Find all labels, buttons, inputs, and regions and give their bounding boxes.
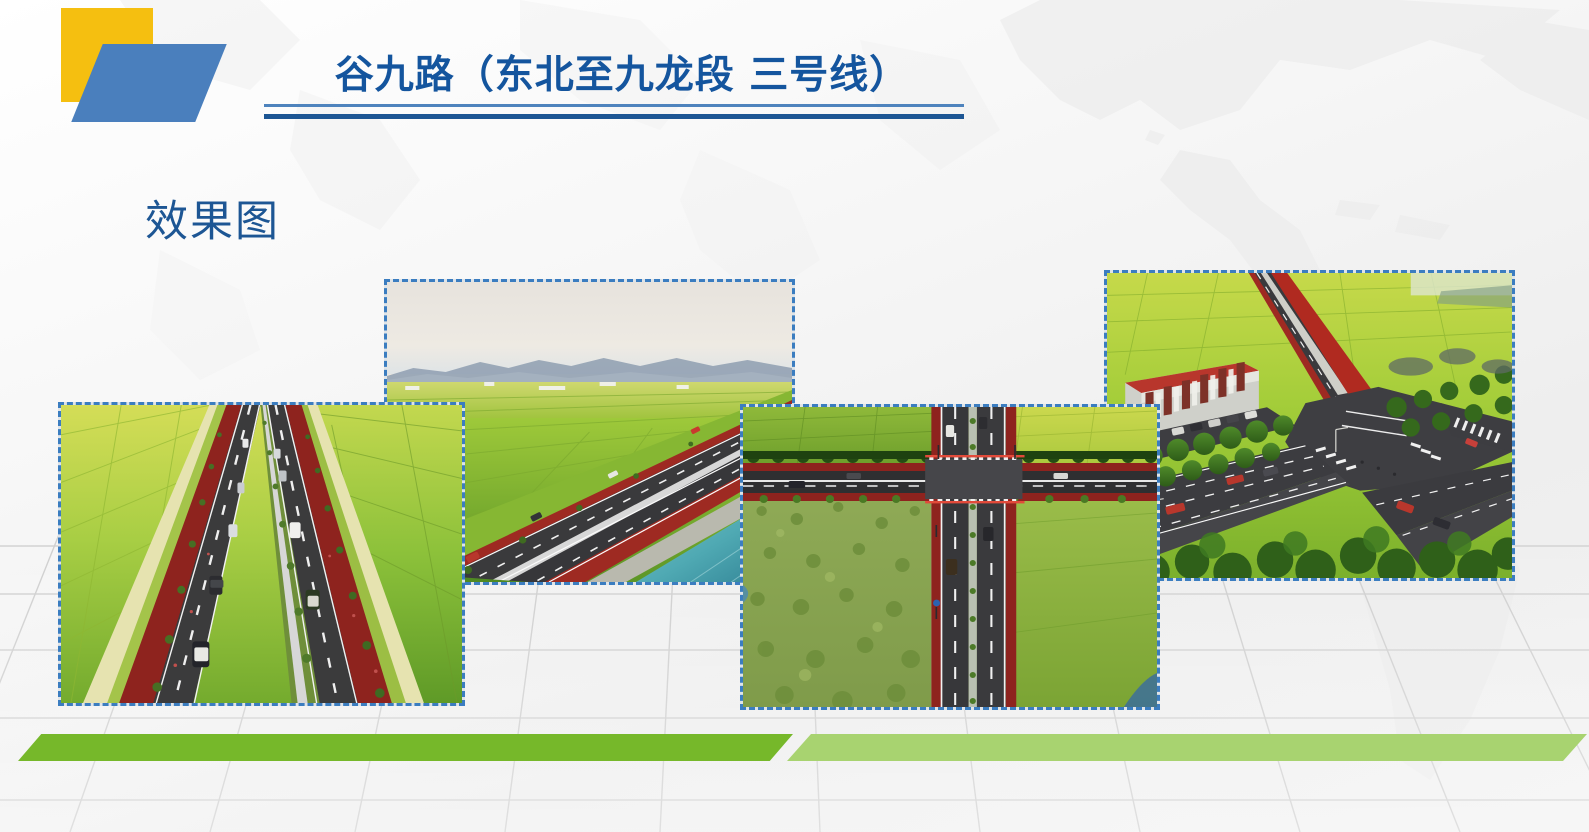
rendering-cross-intersection[interactable] (740, 404, 1160, 710)
slide-canvas: 谷九路（东北至九龙段 三号线） 效果图 (0, 0, 1589, 832)
footer-accent-bar-dark (18, 734, 793, 761)
photo-4-image (1107, 273, 1512, 578)
photo-1-image (61, 405, 462, 703)
page-title: 谷九路（东北至九龙段 三号线） (262, 44, 982, 100)
rendering-divided-highway-farmland[interactable] (58, 402, 465, 706)
title-rule-thick (264, 114, 964, 119)
footer-accent-bar-light (787, 734, 1587, 761)
corporate-logo (59, 6, 229, 136)
section-label: 效果图 (145, 187, 280, 249)
rendering-major-junction-with-building[interactable] (1104, 270, 1515, 581)
photo-3-image (743, 407, 1157, 707)
title-rule-thin (264, 104, 964, 107)
